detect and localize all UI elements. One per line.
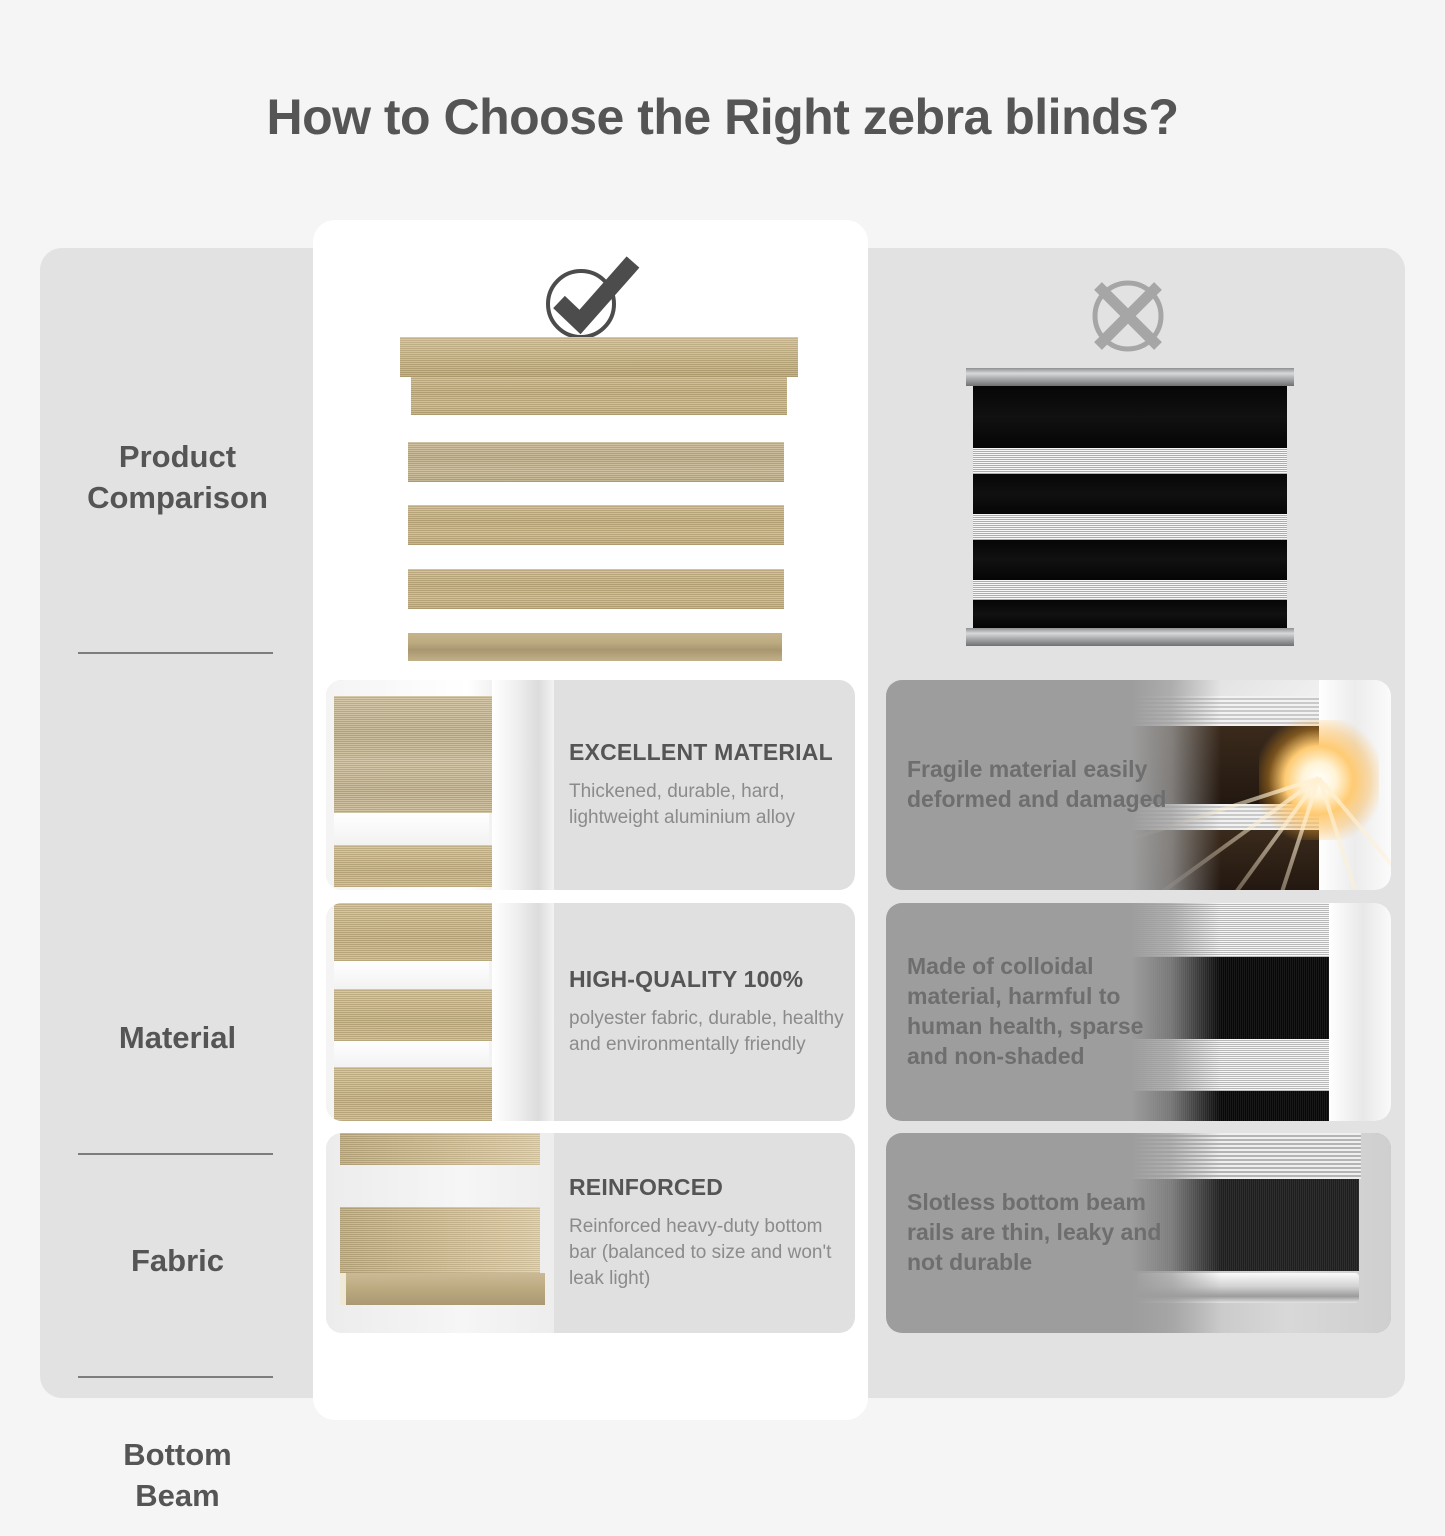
page-title: How to Choose the Right zebra blinds?	[0, 88, 1445, 146]
bad-feature-bottom-beam: Slotless bottom beam rails are thin, lea…	[886, 1133, 1391, 1333]
good-feature-heading: HIGH-QUALITY 100%	[569, 966, 849, 993]
good-material-text: EXCELLENT MATERIAL Thickened, durable, h…	[569, 680, 849, 890]
good-feature-heading: REINFORCED	[569, 1174, 849, 1201]
good-hero-image	[383, 337, 798, 665]
blind-band-dark	[973, 474, 1287, 514]
good-bottom-beam-photo	[326, 1133, 554, 1333]
good-fabric-photo	[326, 903, 554, 1121]
good-fabric-text: HIGH-QUALITY 100% polyester fabric, dura…	[569, 903, 849, 1121]
row-label-fabric: Fabric	[40, 1216, 315, 1306]
infographic-page: How to Choose the Right zebra blinds? Pr…	[0, 0, 1445, 1445]
row-divider	[78, 1376, 273, 1378]
bad-feature-material: Fragile material easily deformed and dam…	[886, 680, 1391, 890]
bad-feature-body: Fragile material easily deformed and dam…	[907, 755, 1167, 815]
bad-fabric-photo	[1131, 903, 1391, 1121]
cross-circle-icon	[1078, 268, 1178, 363]
blind-band-light	[973, 448, 1287, 474]
bad-bottom-beam-text: Slotless bottom beam rails are thin, lea…	[907, 1133, 1167, 1333]
blind-band-dark	[973, 386, 1287, 448]
good-material-photo	[326, 680, 554, 890]
row-label-line1: Material	[119, 1018, 236, 1059]
bad-bottom-beam-photo	[1131, 1133, 1391, 1333]
blind-band-light	[973, 580, 1287, 600]
blind-bottom-rail	[966, 628, 1294, 646]
blind-slat	[408, 569, 784, 609]
bad-feature-fabric: Made of colloidal material, harmful to h…	[886, 903, 1391, 1121]
row-divider	[78, 652, 273, 654]
blind-headrail	[400, 337, 798, 377]
bad-fabric-text: Made of colloidal material, harmful to h…	[907, 903, 1167, 1121]
blind-slat	[408, 442, 784, 482]
bad-hero-image	[966, 368, 1294, 646]
blind-band-dark	[973, 540, 1287, 580]
row-label-line1: Product	[119, 439, 236, 474]
thin-bottom-rail	[1137, 1273, 1359, 1303]
blind-bottom-bar	[408, 633, 782, 661]
good-bottom-beam-text: REINFORCED Reinforced heavy-duty bottom …	[569, 1133, 849, 1333]
row-label-product-comparison: Product Comparison	[40, 418, 315, 538]
blind-band-light	[973, 514, 1287, 540]
bad-material-photo	[1131, 680, 1391, 890]
blind-headrail	[966, 368, 1294, 386]
good-feature-body: Thickened, durable, hard, lightweight al…	[569, 779, 849, 831]
blind-slat	[408, 505, 784, 545]
check-circle-icon	[533, 252, 643, 347]
row-divider	[78, 1153, 273, 1155]
good-feature-heading: EXCELLENT MATERIAL	[569, 739, 849, 766]
bad-feature-body: Slotless bottom beam rails are thin, lea…	[907, 1188, 1167, 1278]
good-feature-body: polyester fabric, durable, healthy and e…	[569, 1006, 849, 1058]
row-label-column: Product Comparison Material Fabric Botto…	[40, 248, 315, 1398]
row-label-bottom-beam: Bottom Beam	[40, 1416, 315, 1536]
bad-feature-body: Made of colloidal material, harmful to h…	[907, 952, 1167, 1072]
row-label-line2: Beam	[135, 1478, 219, 1513]
good-feature-body: Reinforced heavy-duty bottom bar (balanc…	[569, 1214, 849, 1293]
good-feature-fabric: HIGH-QUALITY 100% polyester fabric, dura…	[326, 903, 855, 1121]
good-feature-material: EXCELLENT MATERIAL Thickened, durable, h…	[326, 680, 855, 890]
bad-material-text: Fragile material easily deformed and dam…	[907, 680, 1167, 890]
row-label-line1: Bottom	[123, 1437, 231, 1472]
row-label-material: Material	[40, 993, 315, 1083]
good-feature-bottom-beam: REINFORCED Reinforced heavy-duty bottom …	[326, 1133, 855, 1333]
row-label-line1: Fabric	[131, 1241, 224, 1282]
blind-slat	[411, 377, 787, 415]
blind-band-dark	[973, 600, 1287, 628]
row-label-line2: Comparison	[87, 480, 268, 515]
